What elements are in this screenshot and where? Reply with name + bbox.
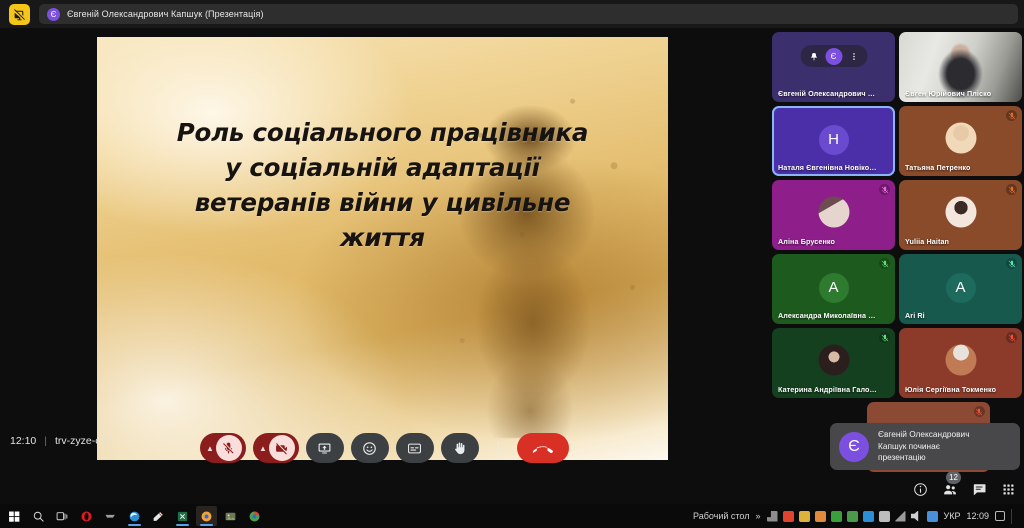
participant-name: Yuliia Haitan (905, 237, 1004, 246)
slide-title-line: життя (123, 220, 642, 255)
participant-name: Татьяна Петренко (905, 163, 1004, 172)
participant-name: Ari Ri (905, 311, 1004, 320)
emoji-smiley-icon (362, 441, 377, 456)
meeting-info: 12:10 | trv-zyze-cnu (10, 430, 112, 452)
avatar: Н (819, 125, 849, 155)
info-icon (913, 482, 928, 497)
mic-off-icon (1006, 332, 1017, 343)
participant-tile[interactable]: Yuliia Haitan (899, 180, 1022, 250)
toast-line: презентацію (878, 452, 926, 462)
opera-icon[interactable] (76, 506, 97, 526)
participant-tile[interactable]: Юлія Сергіївна Токменко (899, 328, 1022, 398)
main-stage: Роль соціального працівника у соціальній… (0, 28, 768, 480)
kebab-menu-icon (491, 441, 505, 455)
raise-hand-button[interactable] (441, 433, 479, 463)
participant-row: Катерина Андріївна Галова Юлія Сергіївна… (772, 328, 1022, 398)
avatar: Є (47, 8, 60, 21)
avatar (818, 197, 849, 228)
avatar: Є (825, 48, 842, 65)
slide-title-line: Роль соціального працівника (123, 115, 642, 150)
captions-button[interactable] (396, 433, 434, 463)
start-button-icon[interactable] (4, 506, 25, 526)
mic-off-icon (1006, 110, 1017, 121)
meet-window: Є Євгеній Олександрович Капшук (Презента… (0, 0, 1024, 528)
participants-button[interactable]: 12 (942, 482, 958, 497)
recorder-icon[interactable] (783, 511, 794, 522)
network-icon[interactable] (895, 511, 906, 522)
avatar (945, 197, 976, 228)
excel-icon[interactable] (172, 506, 193, 526)
avatar (818, 345, 849, 376)
keyboard-icon[interactable] (879, 511, 890, 522)
task-view-icon[interactable] (52, 506, 73, 526)
participant-name: Юлія Сергіївна Токменко (905, 385, 1004, 394)
mic-off-icon (879, 258, 890, 269)
chevron-up-icon[interactable]: ▲ (259, 444, 267, 453)
slide-title: Роль соціального працівника у соціальній… (97, 115, 668, 255)
mic-off-icon (1006, 258, 1017, 269)
running-indicator (200, 524, 213, 526)
participant-tile[interactable]: Катерина Андріївна Галова (772, 328, 895, 398)
pin-icon[interactable] (805, 48, 822, 65)
participant-tile[interactable]: A Ari Ri (899, 254, 1022, 324)
taskbar-app-icons (0, 506, 265, 526)
edge-icon[interactable] (124, 506, 145, 526)
avatar (945, 345, 976, 376)
chevron-up-icon[interactable]: ▲ (206, 444, 214, 453)
toast-message: Євгеній Олександрович Капшук починає пре… (878, 429, 970, 464)
participant-name: Євгеній Олександрович Капшук (778, 89, 877, 98)
taskbar-tray: Рабочий стол » УКР 12:09 (693, 509, 1024, 524)
participant-tile[interactable]: Н Наталя Євгенівна Новікова (772, 106, 895, 176)
avatar (945, 123, 976, 154)
present-screen-icon (317, 441, 332, 456)
windows-taskbar: Рабочий стол » УКР 12:09 (0, 504, 1024, 528)
presentation-toast[interactable]: Є Євгеній Олександрович Капшук починає п… (830, 423, 1020, 470)
divider: | (44, 435, 47, 447)
volume-icon[interactable] (911, 511, 922, 522)
usb-icon[interactable] (799, 511, 810, 522)
photos-icon[interactable] (220, 506, 241, 526)
participant-row: Аліна Брусенко Yuliia Haitan (772, 180, 1022, 250)
mic-off-icon (879, 184, 890, 195)
tile-hover-controls: Є (800, 45, 867, 67)
mail-icon[interactable] (100, 506, 121, 526)
notifications-icon[interactable] (995, 511, 1005, 521)
people-icon (942, 482, 958, 497)
apps-grid-icon (1001, 482, 1016, 497)
participant-row: Є Євгеній Олександрович Капшук Євген Юрі… (772, 32, 1022, 102)
microphone-toggle[interactable]: ▲ (200, 433, 246, 463)
participant-tile[interactable]: А Александра Миколаївна Сквар... (772, 254, 895, 324)
avatar: A (946, 273, 976, 303)
meeting-clock: 12:10 (10, 435, 36, 447)
presenting-topbar: Є Євгеній Олександрович Капшук (Презента… (0, 0, 1024, 28)
search-icon[interactable] (28, 506, 49, 526)
chrome-second-icon[interactable] (244, 506, 265, 526)
participant-name: Євген Юрійович Пліско (905, 89, 1004, 98)
running-indicator (128, 524, 141, 526)
sync-icon[interactable] (831, 511, 842, 522)
participant-name: Аліна Брусенко (778, 237, 877, 246)
mic-off-icon (216, 435, 242, 461)
participant-tile[interactable]: Євген Юрійович Пліско (899, 32, 1022, 102)
participant-name: Александра Миколаївна Сквар... (778, 311, 877, 320)
meeting-details-button[interactable] (913, 482, 928, 497)
info-tray-icon[interactable] (863, 511, 874, 522)
taskbar-clock[interactable]: 12:09 (966, 511, 989, 521)
running-indicator (176, 524, 189, 526)
camera-off-icon (269, 435, 295, 461)
slide-title-line: ветеранів війни у цивільне (123, 185, 642, 220)
toast-line: Капшук починає (878, 441, 940, 451)
captions-icon (407, 441, 422, 456)
participant-name: Катерина Андріївна Галова (778, 385, 877, 394)
toolbar-overflow-icon[interactable]: » (755, 511, 760, 521)
avatar: Є (839, 432, 869, 462)
desktop-toolbar-label[interactable]: Рабочий стол (693, 511, 750, 521)
end-call-icon (533, 438, 553, 458)
participant-name: Наталя Євгенівна Новікова (778, 163, 877, 172)
chat-icon (972, 482, 987, 497)
meet-actions-bar: 12 (913, 476, 1016, 502)
emoji-reactions-button[interactable] (351, 433, 389, 463)
stop-presenting-icon[interactable] (9, 4, 30, 25)
presenting-chip[interactable]: Є Євгеній Олександрович Капшук (Презента… (39, 4, 1018, 24)
chat-button[interactable] (972, 482, 987, 497)
kebab-menu-icon[interactable] (845, 48, 862, 65)
participant-tile[interactable]: Татьяна Петренко (899, 106, 1022, 176)
avatar: А (819, 273, 849, 303)
shared-slide[interactable]: Роль соціального працівника у соціальній… (97, 37, 668, 460)
mic-off-icon (879, 332, 890, 343)
slide-title-line: у соціальній адаптації (123, 150, 642, 185)
language-indicator[interactable]: УКР (944, 511, 961, 521)
participant-row: А Александра Миколаївна Сквар... A Ari R… (772, 254, 1022, 324)
leave-call-button[interactable] (517, 433, 569, 463)
shield-icon[interactable] (847, 511, 858, 522)
participant-tile[interactable]: Є Євгеній Олександрович Капшук (772, 32, 895, 102)
tray-icons (767, 511, 938, 522)
presenting-label: Євгеній Олександрович Капшук (Презентаці… (67, 9, 264, 19)
participant-grid: Є Євгеній Олександрович Капшук Євген Юрі… (772, 32, 1022, 476)
participant-row: Н Наталя Євгенівна Новікова Татьяна Петр… (772, 106, 1022, 176)
participant-tile[interactable]: Аліна Брусенко (772, 180, 895, 250)
chrome-icon[interactable] (196, 506, 217, 526)
display-icon[interactable] (927, 511, 938, 522)
more-options-button[interactable] (486, 433, 510, 463)
mic-off-icon (1006, 184, 1017, 195)
paint-icon[interactable] (148, 506, 169, 526)
meeting-code[interactable]: trv-zyze-cnu (55, 435, 112, 447)
toast-line: Євгеній Олександрович (878, 429, 970, 439)
call-control-bar: ▲ ▲ (0, 426, 768, 470)
mail-tray-icon[interactable] (815, 511, 826, 522)
network-share-icon[interactable] (767, 511, 778, 522)
present-now-button[interactable] (306, 433, 344, 463)
mic-off-icon (974, 406, 985, 417)
show-desktop-button[interactable] (1011, 509, 1020, 524)
activities-button[interactable] (1001, 482, 1016, 497)
raised-hand-icon (452, 441, 467, 456)
camera-toggle[interactable]: ▲ (253, 433, 299, 463)
